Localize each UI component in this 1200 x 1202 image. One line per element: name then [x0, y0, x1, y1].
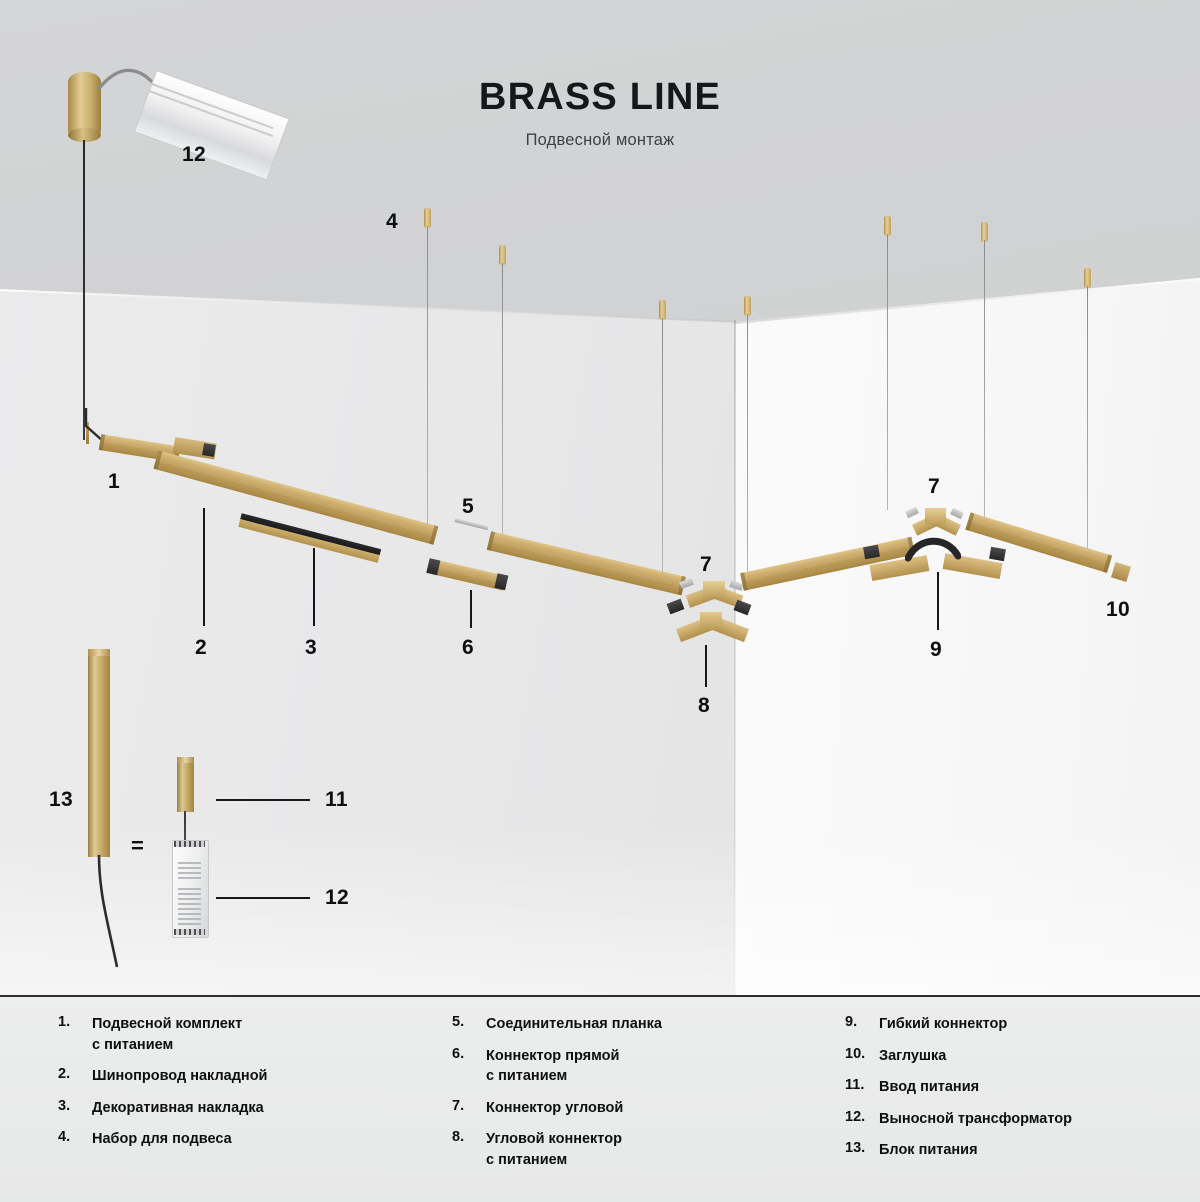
- callout-6: 6: [462, 636, 474, 660]
- legend-item-label: Соединительная планка: [486, 1014, 662, 1035]
- legend-item-number: 8.: [452, 1129, 486, 1170]
- callout-2: 2: [195, 636, 207, 660]
- flexible-connector-contact-right: [989, 547, 1006, 561]
- power-block-top: [88, 649, 110, 656]
- suspension-wire-4: [747, 314, 748, 576]
- suspension-head-6: [981, 222, 988, 242]
- flexible-connector-contact-left: [863, 545, 880, 559]
- legend-item: 9.Гибкий коннектор: [845, 1014, 1185, 1035]
- legend-item-number: 1.: [58, 1014, 92, 1055]
- legend-item: 12.Выносной трансформатор: [845, 1109, 1185, 1130]
- suspension-wire-5: [887, 234, 888, 510]
- suspension-head-5: [884, 216, 891, 236]
- suspension-head-3: [659, 300, 666, 320]
- equals-sign: =: [131, 833, 144, 859]
- legend-item-number: 3.: [58, 1098, 92, 1119]
- suspension-wire-7: [1087, 286, 1088, 554]
- legend-item-number: 7.: [452, 1098, 486, 1119]
- power-input-body: [177, 760, 194, 812]
- legend-item: 13.Блок питания: [845, 1140, 1185, 1161]
- callout-7a: 7: [700, 553, 712, 577]
- legend-item-label: Блок питания: [879, 1140, 978, 1161]
- transformer-vent-upper: [178, 862, 201, 880]
- suspension-head-2: [499, 245, 506, 265]
- page-title: BRASS LINE: [0, 78, 1200, 116]
- legend-item-label: Заглушка: [879, 1046, 946, 1067]
- corner-connector-power-vertex: [700, 612, 722, 630]
- power-input-top: [177, 757, 194, 763]
- legend-item: 1.Подвесной комплектс питанием: [58, 1014, 418, 1055]
- transformer-terminal-top: [174, 841, 205, 847]
- legend-item-number: 10.: [845, 1046, 879, 1067]
- legend-item: 5.Соединительная планка: [452, 1014, 812, 1035]
- corner-connector-upper-vertex: [703, 581, 725, 597]
- legend-item-label: Коннектор угловой: [486, 1098, 623, 1119]
- legend-item-label: Коннектор прямойс питанием: [486, 1046, 619, 1087]
- legend-item: 7.Коннектор угловой: [452, 1098, 812, 1119]
- flexible-connector-flex-cable: [905, 534, 961, 562]
- suspension-head-1: [424, 208, 431, 228]
- callout-4: 4: [386, 210, 398, 234]
- suspension-wire-2: [502, 263, 503, 541]
- leader-12: [216, 897, 310, 899]
- legend-item-number: 12.: [845, 1109, 879, 1130]
- legend-item-number: 4.: [58, 1129, 92, 1150]
- room-scene: 12 4 1 2: [0, 0, 1200, 995]
- brass-line-diagram: 12 4 1 2: [0, 0, 1200, 1200]
- suspension-wire-6: [984, 240, 985, 520]
- callout-8: 8: [698, 694, 710, 718]
- suspension-wire-3: [662, 318, 663, 578]
- legend-item: 4.Набор для подвеса: [58, 1129, 418, 1150]
- callout-7b: 7: [928, 475, 940, 499]
- corner-connector-right-vertex: [925, 508, 946, 524]
- legend-item-number: 11.: [845, 1077, 879, 1098]
- legend-item-label: Шинопровод накладной: [92, 1066, 267, 1087]
- leader-2: [203, 508, 205, 626]
- suspension-head-7: [1084, 268, 1091, 288]
- suspension-wire-1: [427, 226, 428, 526]
- power-block-body: [88, 652, 110, 857]
- legend-item-number: 13.: [845, 1140, 879, 1161]
- legend-item-label: Угловой коннекторс питанием: [486, 1129, 622, 1170]
- legend-item-label: Подвесной комплектс питанием: [92, 1014, 242, 1055]
- callout-3: 3: [305, 636, 317, 660]
- transformer-terminal-bottom: [174, 929, 205, 935]
- legend-column-2: 5.Соединительная планка6.Коннектор прямо…: [452, 1014, 812, 1181]
- header-block: BRASS LINE Подвесной монтаж: [0, 78, 1200, 150]
- leader-6: [470, 590, 472, 628]
- legend-item-number: 5.: [452, 1014, 486, 1035]
- transformer-vent-lower: [178, 888, 201, 926]
- legend-item-label: Выносной трансформатор: [879, 1109, 1072, 1130]
- legend-item-label: Набор для подвеса: [92, 1129, 232, 1150]
- legend-item-label: Ввод питания: [879, 1077, 979, 1098]
- legend-item-label: Декоративная накладка: [92, 1098, 264, 1119]
- legend-item-number: 6.: [452, 1046, 486, 1087]
- legend-item-number: 9.: [845, 1014, 879, 1035]
- leader-3: [313, 548, 315, 626]
- legend-item: 6.Коннектор прямойс питанием: [452, 1046, 812, 1087]
- callout-9: 9: [930, 638, 942, 662]
- legend-item: 10.Заглушка: [845, 1046, 1185, 1067]
- legend-item: 2.Шинопровод накладной: [58, 1066, 418, 1087]
- leader-9: [937, 572, 939, 630]
- page-subtitle: Подвесной монтаж: [0, 131, 1200, 150]
- legend-item-number: 2.: [58, 1066, 92, 1087]
- callout-5: 5: [462, 495, 474, 519]
- power-block-cable: [86, 855, 126, 970]
- legend-item: 11.Ввод питания: [845, 1077, 1185, 1098]
- leader-11: [216, 799, 310, 801]
- legend-item: 3.Декоративная накладка: [58, 1098, 418, 1119]
- legend-panel: 1.Подвесной комплектс питанием2.Шинопров…: [0, 995, 1200, 1202]
- callout-10: 10: [1106, 598, 1130, 622]
- callout-1: 1: [108, 470, 120, 494]
- leader-8: [705, 645, 707, 687]
- callout-12-bottom: 12: [325, 886, 349, 910]
- legend-column-1: 1.Подвесной комплектс питанием2.Шинопров…: [58, 1014, 418, 1161]
- legend-item-label: Гибкий коннектор: [879, 1014, 1007, 1035]
- legend-item: 8.Угловой коннекторс питанием: [452, 1129, 812, 1170]
- callout-13: 13: [49, 788, 73, 812]
- suspension-head-4: [744, 296, 751, 316]
- legend-column-3: 9.Гибкий коннектор10.Заглушка11.Ввод пит…: [845, 1014, 1185, 1172]
- callout-11: 11: [325, 788, 348, 812]
- power-feed-cable: [83, 140, 85, 440]
- suspension-kit-contact: [202, 443, 216, 457]
